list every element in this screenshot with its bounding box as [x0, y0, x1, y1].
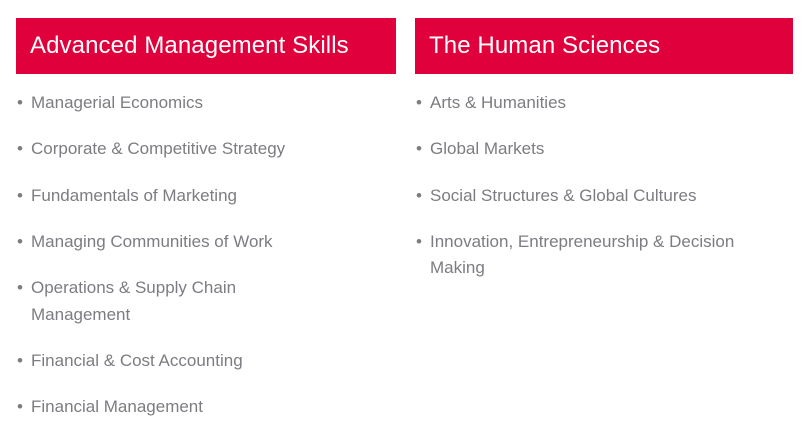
course-list-the-human-sciences: • Arts & Humanities • Global Markets • S…: [415, 90, 793, 282]
list-item[interactable]: • Fundamentals of Marketing: [16, 183, 396, 209]
list-item[interactable]: • Global Markets: [415, 136, 793, 162]
list-item-label: Innovation, Entrepreneurship & Decision …: [430, 229, 785, 282]
bullet-icon: •: [416, 229, 422, 255]
bullet-icon: •: [17, 136, 23, 162]
bullet-icon: •: [416, 90, 422, 116]
list-item-label: Operations & Supply Chain Management: [31, 275, 336, 328]
list-item[interactable]: • Financial & Cost Accounting: [16, 348, 396, 374]
course-column-advanced-management-skills: Advanced Management Skills • Managerial …: [16, 18, 396, 441]
list-item[interactable]: • Operations & Supply Chain Management: [16, 275, 396, 328]
list-item[interactable]: • Managing Communities of Work: [16, 229, 396, 255]
column-title: Advanced Management Skills: [30, 33, 349, 59]
bullet-icon: •: [17, 348, 23, 374]
bullet-icon: •: [17, 229, 23, 255]
course-column-the-human-sciences: The Human Sciences • Arts & Humanities •…: [415, 18, 793, 302]
bullet-icon: •: [416, 183, 422, 209]
column-header-advanced-management-skills: Advanced Management Skills: [16, 18, 396, 74]
list-item[interactable]: • Social Structures & Global Cultures: [415, 183, 793, 209]
list-item[interactable]: • Arts & Humanities: [415, 90, 793, 116]
bullet-icon: •: [17, 90, 23, 116]
bullet-icon: •: [17, 275, 23, 301]
column-title: The Human Sciences: [429, 33, 660, 59]
list-item-label: Global Markets: [430, 136, 785, 162]
list-item-label: Arts & Humanities: [430, 90, 785, 116]
bullet-icon: •: [416, 136, 422, 162]
list-item[interactable]: • Innovation, Entrepreneurship & Decisio…: [415, 229, 793, 282]
list-item-label: Social Structures & Global Cultures: [430, 183, 785, 209]
list-item-label: Financial & Cost Accounting: [31, 348, 336, 374]
bullet-icon: •: [17, 183, 23, 209]
column-header-the-human-sciences: The Human Sciences: [415, 18, 793, 74]
list-item-label: Managing Communities of Work: [31, 229, 336, 255]
list-item-label: Fundamentals of Marketing: [31, 183, 336, 209]
course-list-advanced-management-skills: • Managerial Economics • Corporate & Com…: [16, 90, 396, 421]
curriculum-panel: Advanced Management Skills • Managerial …: [0, 0, 807, 408]
list-item[interactable]: • Corporate & Competitive Strategy: [16, 136, 396, 162]
list-item-label: Managerial Economics: [31, 90, 336, 116]
list-item-label: Corporate & Competitive Strategy: [31, 136, 336, 162]
list-item[interactable]: • Managerial Economics: [16, 90, 396, 116]
